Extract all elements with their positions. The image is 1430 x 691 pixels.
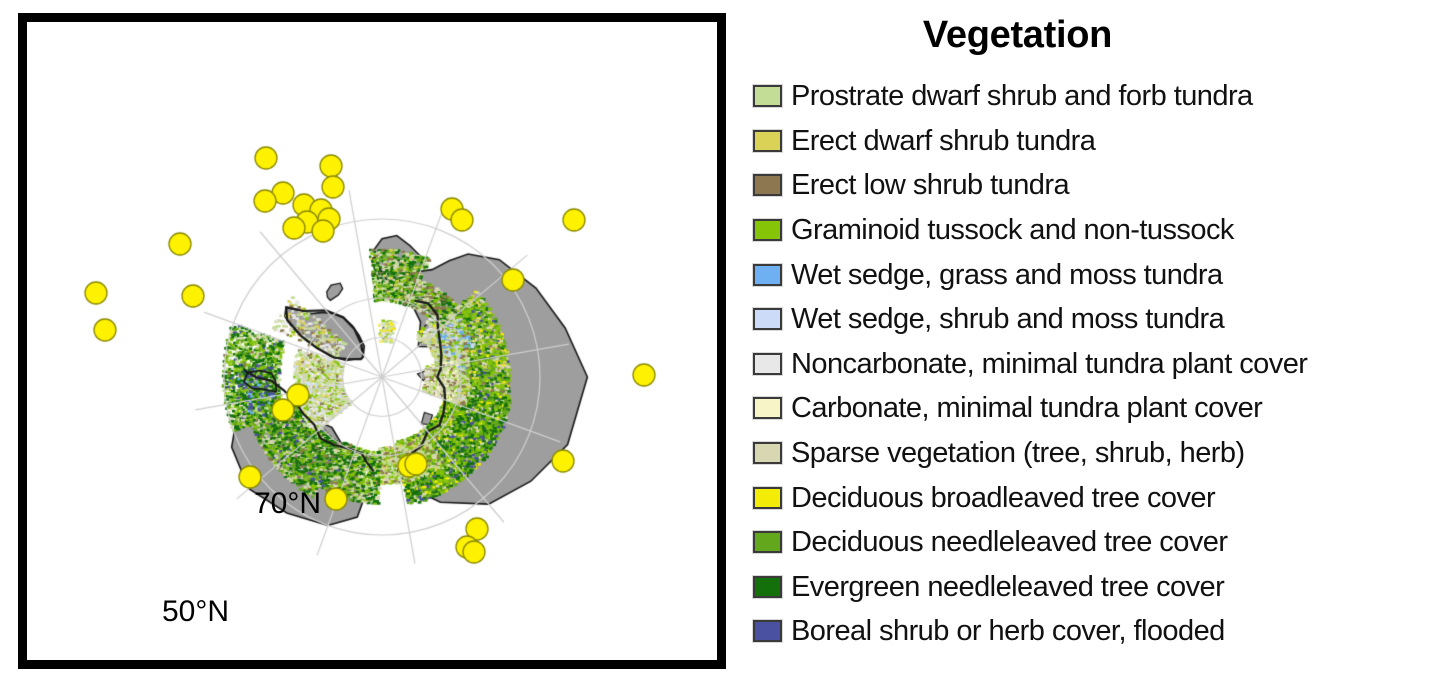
figure-root: 70°N 50°N Vegetation Prostrate dwarf shr…	[0, 0, 1430, 691]
legend-item: Boreal shrub or herb cover, flooded	[753, 609, 1307, 654]
legend-item-label: Wet sedge, shrub and moss tundra	[791, 304, 1224, 334]
legend-item-label: Prostrate dwarf shrub and forb tundra	[791, 81, 1253, 111]
legend-item: Noncarbonate, minimal tundra plant cover	[753, 342, 1307, 387]
latitude-label-50n: 50°N	[162, 595, 229, 629]
legend-item-label: Sparse vegetation (tree, shrub, herb)	[791, 438, 1245, 468]
legend-item: Carbonate, minimal tundra plant cover	[753, 386, 1307, 431]
legend-item-label: Erect dwarf shrub tundra	[791, 126, 1095, 156]
map-panel: 70°N 50°N	[18, 13, 726, 669]
legend-item: Wet sedge, shrub and moss tundra	[753, 297, 1307, 342]
legend-item-label: Boreal shrub or herb cover, flooded	[791, 616, 1225, 646]
legend-item-list: Prostrate dwarf shrub and forb tundraEre…	[753, 74, 1307, 654]
legend-item: Graminoid tussock and non-tussock	[753, 208, 1307, 253]
legend-swatch-1	[753, 130, 782, 152]
legend-item: Evergreen needleleaved tree cover	[753, 565, 1307, 610]
legend-panel: Vegetation Prostrate dwarf shrub and for…	[745, 0, 1430, 691]
arctic-vegetation-map-canvas	[27, 22, 717, 660]
legend-swatch-10	[753, 531, 782, 553]
legend-swatch-6	[753, 353, 782, 375]
legend-item-label: Carbonate, minimal tundra plant cover	[791, 393, 1262, 423]
legend-item-label: Deciduous broadleaved tree cover	[791, 483, 1215, 513]
legend-item-label: Evergreen needleleaved tree cover	[791, 572, 1224, 602]
legend-swatch-9	[753, 487, 782, 509]
legend-item: Prostrate dwarf shrub and forb tundra	[753, 74, 1307, 119]
legend-item: Wet sedge, grass and moss tundra	[753, 252, 1307, 297]
legend-item: Sparse vegetation (tree, shrub, herb)	[753, 431, 1307, 476]
legend-swatch-0	[753, 85, 782, 107]
legend-swatch-4	[753, 264, 782, 286]
legend-item: Deciduous needleleaved tree cover	[753, 520, 1307, 565]
legend-item-label: Deciduous needleleaved tree cover	[791, 527, 1227, 557]
legend-item: Deciduous broadleaved tree cover	[753, 475, 1307, 520]
legend-swatch-7	[753, 397, 782, 419]
legend-item-label: Wet sedge, grass and moss tundra	[791, 260, 1223, 290]
legend-swatch-3	[753, 219, 782, 241]
legend-item-label: Noncarbonate, minimal tundra plant cover	[791, 349, 1307, 379]
legend-swatch-11	[753, 576, 782, 598]
legend-swatch-12	[753, 620, 782, 642]
legend-item-label: Graminoid tussock and non-tussock	[791, 215, 1234, 245]
legend-item-label: Erect low shrub tundra	[791, 170, 1069, 200]
legend-swatch-2	[753, 174, 782, 196]
legend-item: Erect dwarf shrub tundra	[753, 119, 1307, 164]
latitude-label-70n: 70°N	[254, 487, 321, 521]
legend-item: Erect low shrub tundra	[753, 163, 1307, 208]
legend-swatch-8	[753, 442, 782, 464]
legend-title: Vegetation	[745, 14, 1290, 57]
legend-swatch-5	[753, 308, 782, 330]
